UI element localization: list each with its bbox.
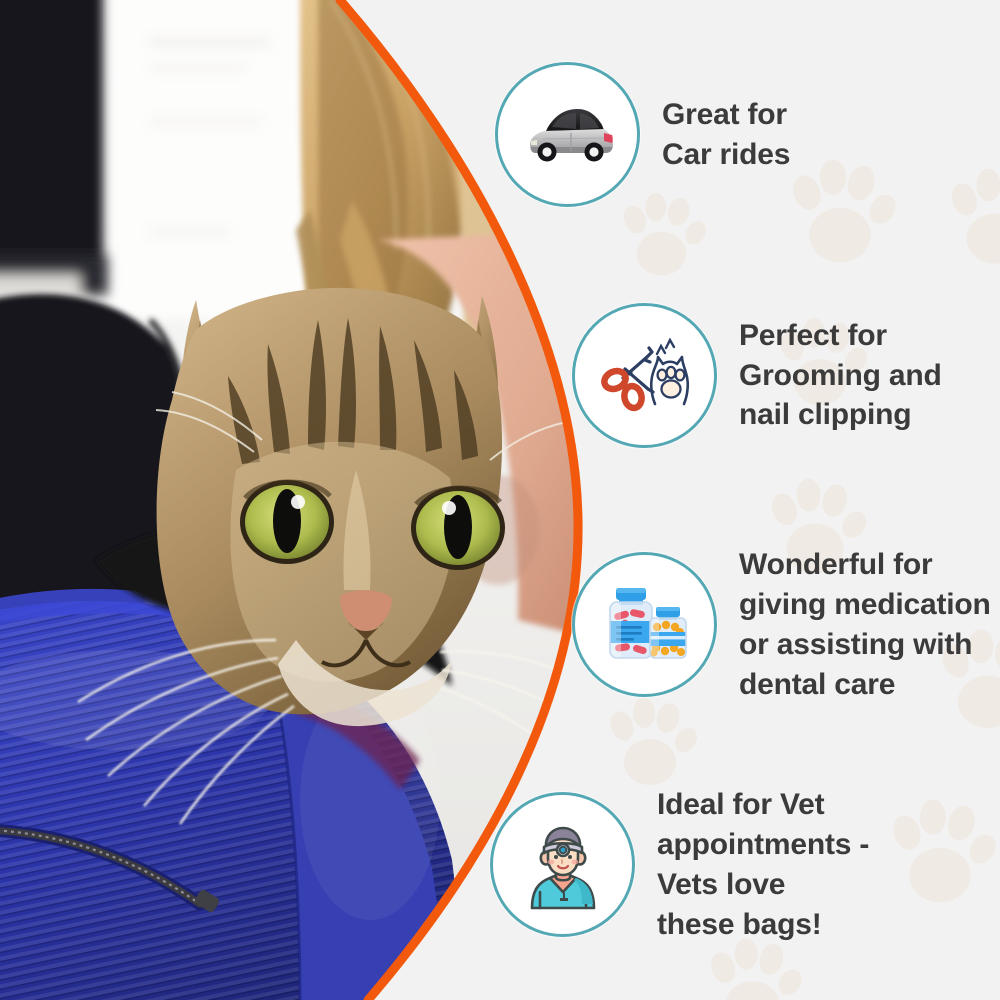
paw-print-watermark — [940, 160, 1000, 280]
feature-label-grooming: Perfect for Grooming and nail clipping — [739, 316, 942, 436]
feature-label-vet-appointments: Ideal for Vet appointments - Vets love t… — [657, 785, 869, 945]
nail-clipper-paw-icon — [595, 326, 695, 426]
paw-print-watermark — [780, 150, 900, 280]
paw-print-watermark — [600, 690, 700, 800]
car-icon — [516, 83, 620, 187]
veterinarian-icon — [512, 814, 614, 916]
feature-badge-grooming — [572, 303, 717, 448]
feature-badge-vet — [490, 792, 635, 937]
feature-row-car-rides[interactable]: Great for Car rides — [495, 62, 790, 207]
product-feature-infographic: Great for Car rides — [0, 0, 1000, 1000]
feature-row-vet-appointments[interactable]: Ideal for Vet appointments - Vets love t… — [490, 785, 869, 945]
feature-row-medication[interactable]: Wonderful for giving medication or assis… — [572, 545, 991, 705]
feature-badge-car-rides — [495, 62, 640, 207]
feature-badge-medication — [572, 552, 717, 697]
feature-label-medication: Wonderful for giving medication or assis… — [739, 545, 991, 705]
pill-bottles-icon — [594, 574, 696, 676]
feature-label-car-rides: Great for Car rides — [662, 95, 790, 175]
feature-row-grooming[interactable]: Perfect for Grooming and nail clipping — [572, 303, 942, 448]
paw-print-watermark — [880, 790, 1000, 920]
